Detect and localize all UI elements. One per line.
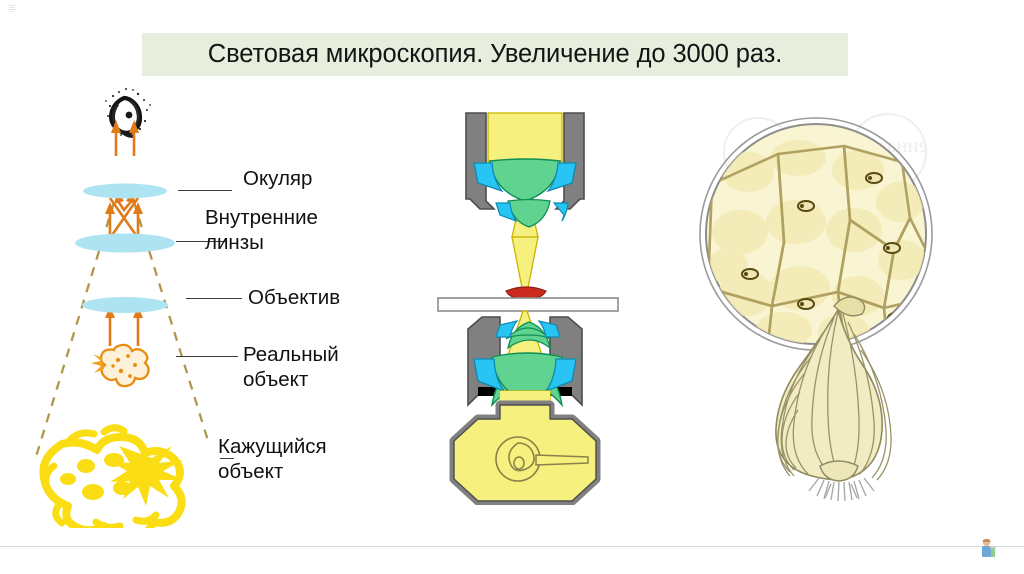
lens-internal-group bbox=[496, 200, 568, 228]
leader-eyepiece bbox=[178, 190, 232, 191]
specimen-slide bbox=[438, 298, 618, 311]
label-apparent-object: Кажущийся объект bbox=[218, 434, 327, 484]
apparent-object-cell bbox=[43, 428, 183, 528]
leader-apparent-object bbox=[220, 458, 234, 459]
label-eyepiece: Окуляр bbox=[243, 166, 312, 191]
ray-crossing bbox=[110, 198, 138, 238]
lens-eyepiece bbox=[83, 184, 167, 199]
ray-path-diagram bbox=[18, 88, 208, 528]
label-objective: Объектив bbox=[248, 285, 340, 310]
lamp-stem bbox=[536, 455, 588, 465]
slide-title-box: Световая микроскопия. Увеличение до 3000… bbox=[142, 33, 848, 76]
beam-above-specimen bbox=[512, 237, 538, 293]
light-microscope-schematic bbox=[420, 105, 645, 505]
corner-speck-icon bbox=[9, 5, 16, 13]
ray-arrows-lower bbox=[110, 310, 138, 346]
page-title: Световая микроскопия. Увеличение до 3000… bbox=[208, 40, 782, 69]
lens-internal bbox=[75, 234, 175, 253]
virtual-image-cone bbox=[35, 186, 208, 460]
eye-icon bbox=[105, 88, 151, 136]
label-real-object: Реальный объект bbox=[243, 342, 339, 392]
real-object-cell bbox=[91, 345, 149, 386]
slide-canvas: Световая микроскопия. Увеличение до 3000… bbox=[0, 0, 1024, 574]
label-internal-lenses: Внутренние линзы bbox=[205, 205, 318, 255]
bulb-roots bbox=[809, 478, 874, 501]
leader-real-object bbox=[176, 356, 238, 357]
footer-divider bbox=[0, 546, 1024, 547]
onion-skin-micrograph: еиназокимеS котэ оннасипо .сиР икищ щбо … bbox=[688, 92, 988, 512]
leader-objective bbox=[186, 298, 242, 299]
lens-objective bbox=[82, 297, 168, 313]
lens-eyepiece-group bbox=[490, 159, 560, 201]
presenter-icon bbox=[978, 537, 998, 561]
base-with-lamp bbox=[454, 405, 596, 501]
